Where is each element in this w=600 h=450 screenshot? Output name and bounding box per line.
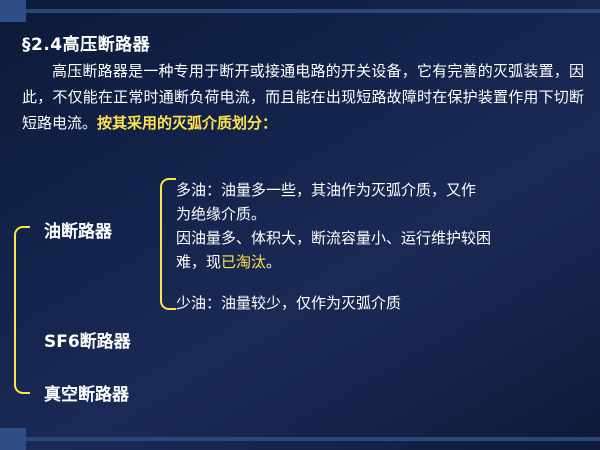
oil-subtype-many-line3: 因油量多、体积大，断流容量小、运行维护较困 (176, 226, 584, 250)
slide-title: §2.4高压断路器 (22, 30, 150, 55)
decorative-line-top (26, 9, 600, 13)
oil-subtype-many-line4: 难，现已淘汰。 (176, 250, 584, 274)
oil-subtype-many: 多油：油量多一些，其油作为灭弧介质，又作 为绝缘介质。 因油量多、体积大，断流容… (176, 178, 584, 274)
oil-subtype-many-line4-highlight: 已淘汰 (221, 253, 266, 271)
category-sf6-breaker: SF6断路器 (44, 327, 131, 352)
oil-subtype-many-line1: 多油：油量多一些，其油作为灭弧介质，又作 (176, 178, 584, 202)
inner-brace (160, 178, 176, 310)
decorative-corner-top-left (0, 0, 26, 22)
intro-paragraph: 高压断路器是一种专用于断开或接通电路的开关设备，它有完善的灭弧装置，因此，不仅能… (22, 58, 584, 136)
decorative-corner-bottom-left (0, 428, 26, 450)
oil-subtype-many-line4-post: 。 (266, 253, 281, 271)
category-vacuum-breaker: 真空断路器 (44, 380, 129, 405)
category-oil-breaker: 油断路器 (44, 217, 112, 242)
decorative-line-bottom (26, 437, 600, 441)
outer-brace (14, 226, 30, 394)
oil-subtype-many-line4-pre: 难，现 (176, 253, 221, 271)
intro-paragraph-highlight: 按其采用的灭弧介质划分： (97, 114, 277, 132)
oil-subtype-less-line1: 少油：油量较少，仅作为灭弧介质 (176, 291, 584, 315)
slide-canvas: §2.4高压断路器 高压断路器是一种专用于断开或接通电路的开关设备，它有完善的灭… (0, 0, 600, 450)
oil-subtype-many-line2: 为绝缘介质。 (176, 202, 584, 226)
oil-subtype-less: 少油：油量较少，仅作为灭弧介质 (176, 291, 584, 315)
